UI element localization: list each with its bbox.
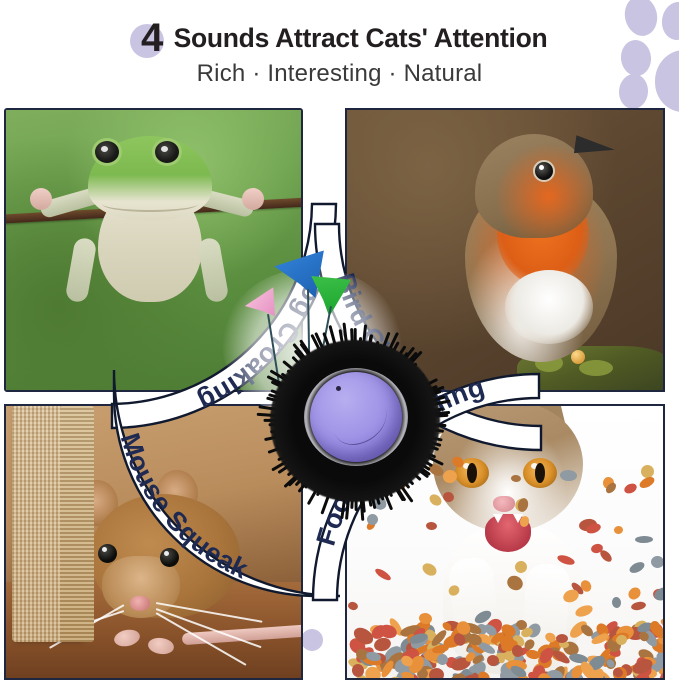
kibble-piece bbox=[626, 585, 643, 602]
highlight-number: 4 bbox=[132, 18, 172, 58]
pink-feather bbox=[244, 287, 286, 327]
kibble-pile bbox=[347, 586, 663, 678]
kibble-piece bbox=[556, 634, 568, 643]
kibble-piece bbox=[428, 667, 445, 680]
subtitle-text: Rich · Interesting · Natural bbox=[0, 60, 679, 88]
decor-dot bbox=[301, 629, 323, 651]
kibble-piece bbox=[652, 585, 665, 603]
number-value: 4 bbox=[141, 18, 162, 58]
mouse-photo bbox=[6, 406, 301, 678]
ball-seam bbox=[326, 390, 393, 450]
page-title: 4 Sounds Attract Cats' Attention bbox=[0, 18, 679, 58]
title-text: Sounds Attract Cats' Attention bbox=[174, 25, 548, 52]
ball-speaker-port-icon bbox=[336, 386, 341, 391]
product-toy[interactable] bbox=[262, 332, 448, 510]
kibble-piece bbox=[347, 601, 359, 611]
header: 4 Sounds Attract Cats' Attention Rich · … bbox=[0, 0, 679, 104]
kibble-piece bbox=[367, 514, 378, 525]
purple-ball bbox=[310, 372, 402, 462]
panel-mouse[interactable] bbox=[4, 404, 303, 680]
infographic-canvas: 4 Sounds Attract Cats' Attention Rich · … bbox=[0, 0, 679, 682]
kibble-piece bbox=[611, 596, 621, 608]
kibble-piece bbox=[447, 583, 462, 598]
kibble-piece bbox=[630, 601, 646, 612]
kibble-piece bbox=[574, 603, 594, 619]
paw-print-icon bbox=[599, 0, 679, 122]
